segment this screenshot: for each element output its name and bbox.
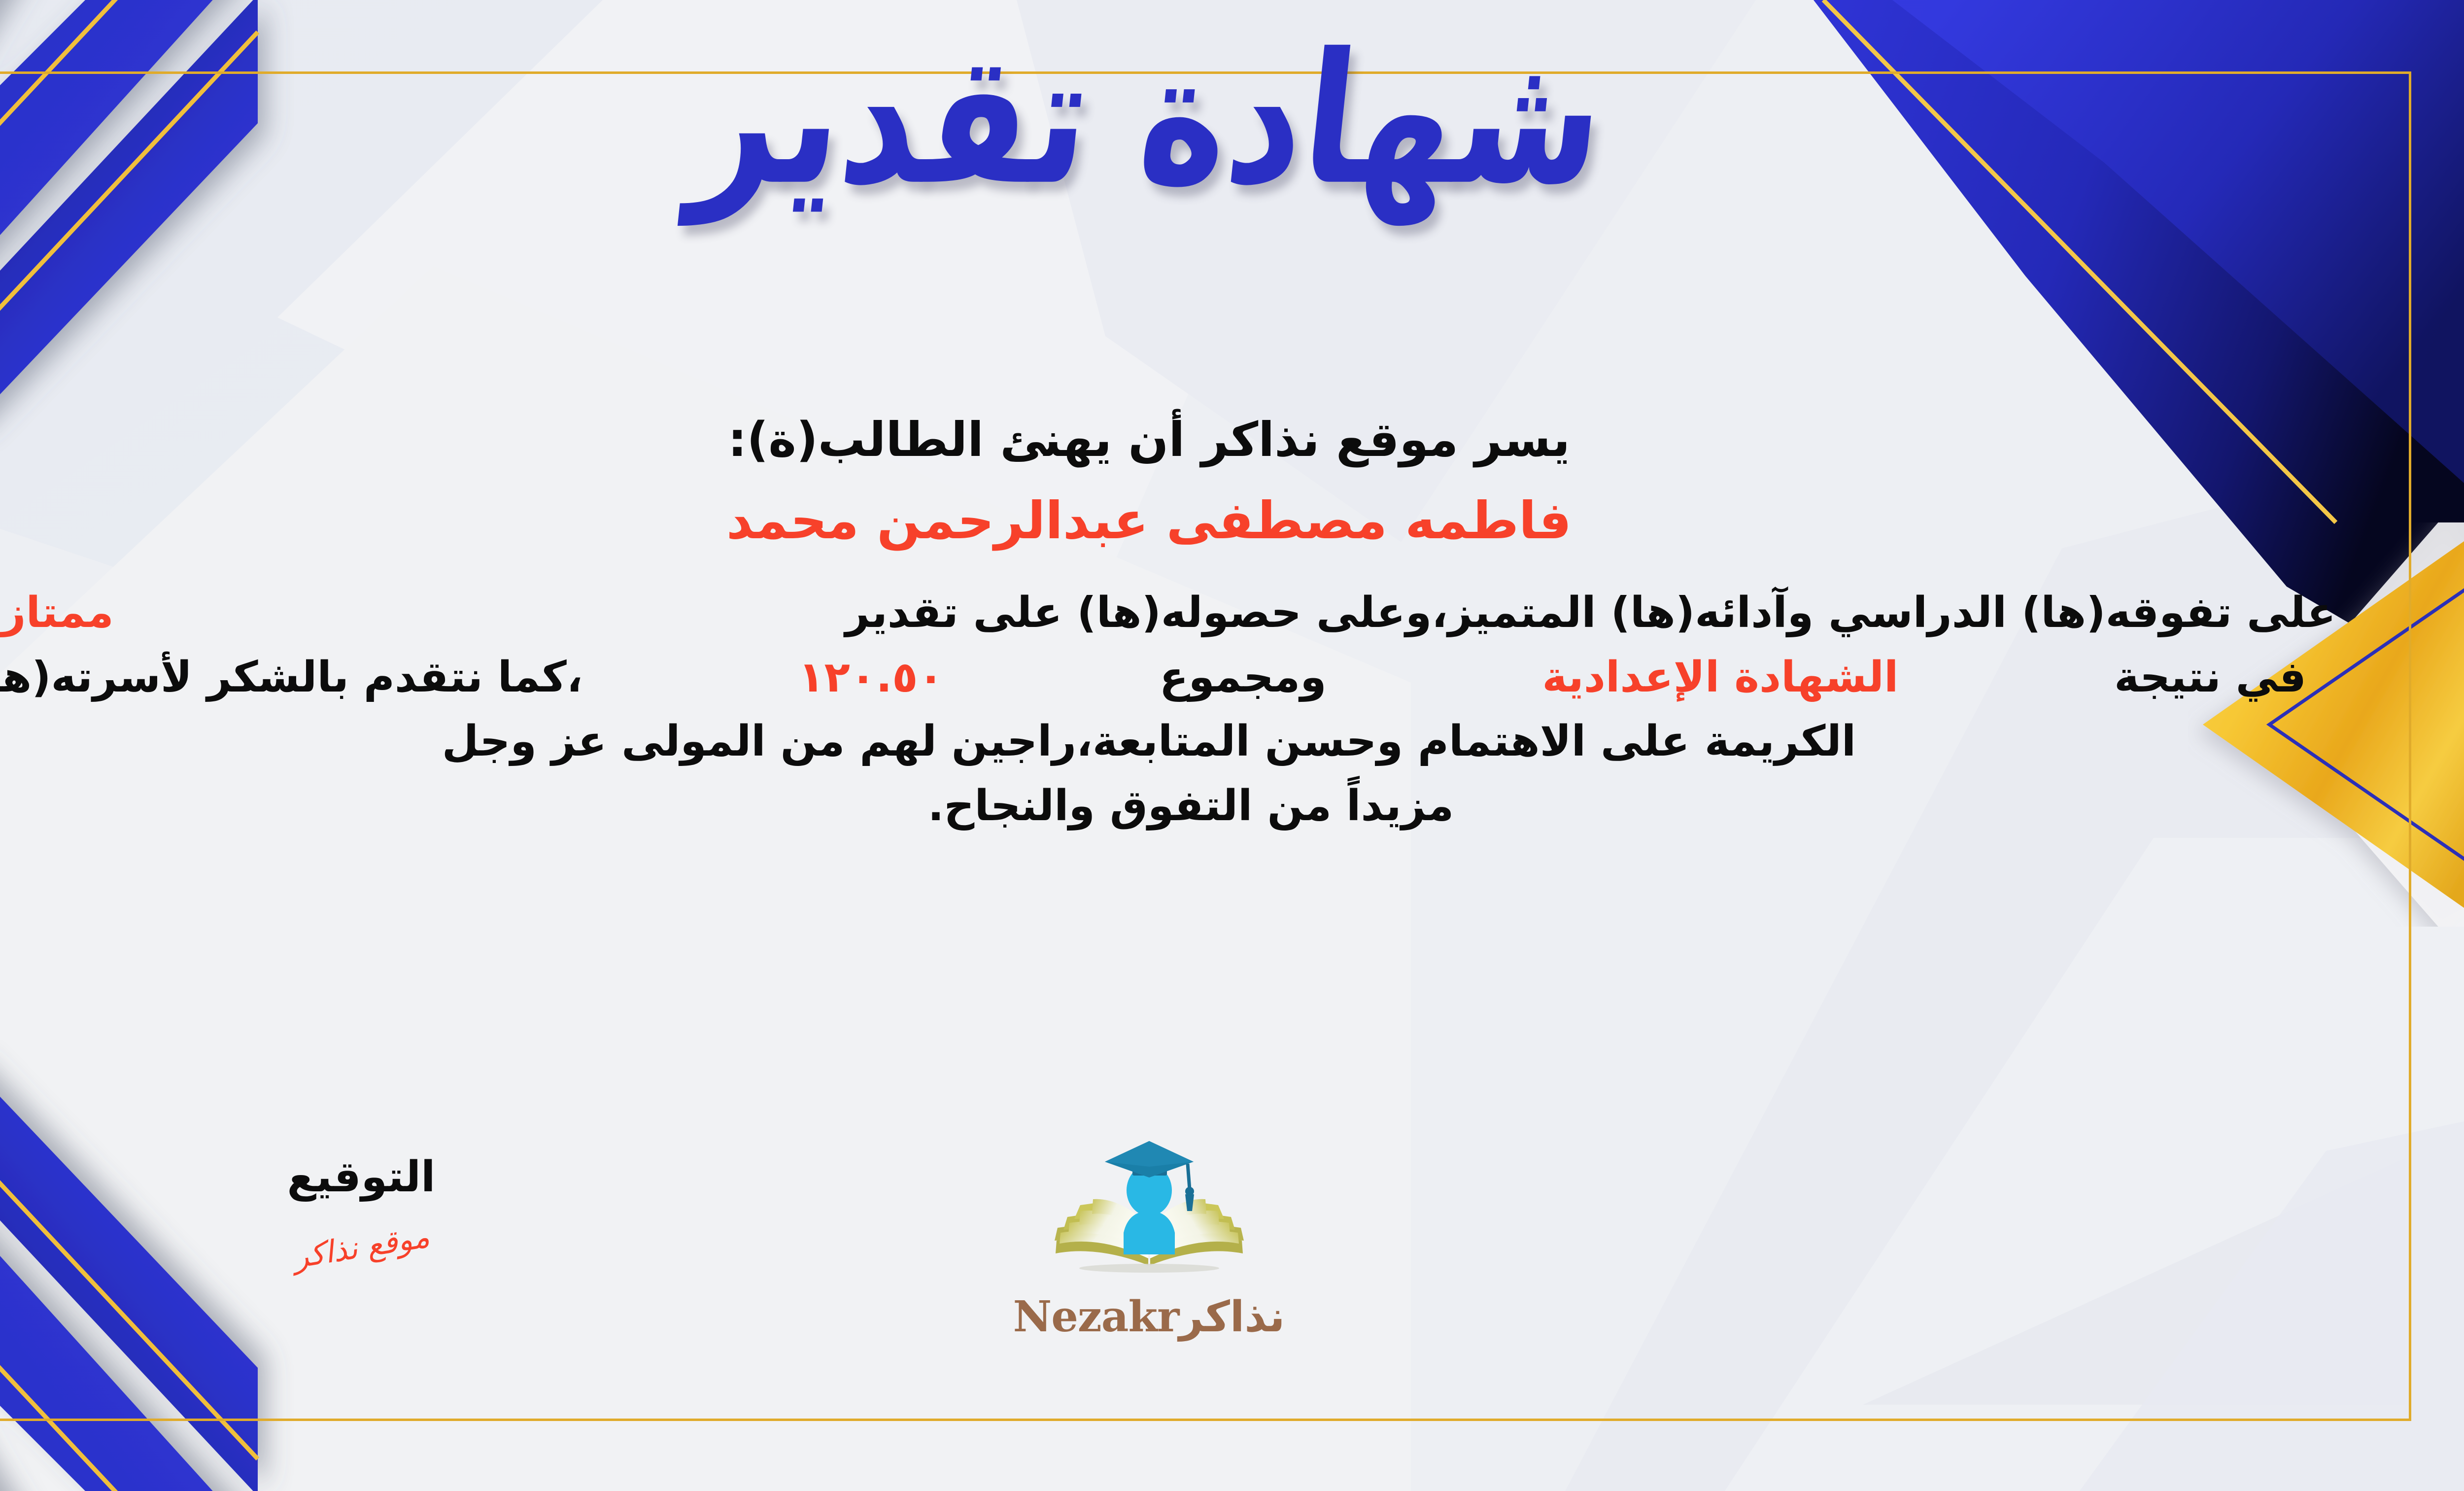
intro-line: يسر موقع نذاكر أن يهنئ الطالب(ة): <box>0 409 2351 471</box>
exam-name: الشهادة الإعدادية <box>1542 645 1898 710</box>
signature-block: التوقيع موقع نذاكر <box>204 1156 519 1265</box>
certificate-body: يسر موقع نذاكر أن يهنئ الطالب(ة): فاطمه … <box>0 409 2351 838</box>
citation-line-1: على تفوقه(ها) الدراسي وآدائه(ها) المتميز… <box>0 581 2351 645</box>
certificate-canvas: شهادة تقدير يسر موقع نذاكر أن يهنئ الطال… <box>0 0 2464 1491</box>
graduate-book-logo-icon <box>1046 1136 1253 1289</box>
brand-logo-wordmark: Nezakrنذاكر <box>957 1292 1341 1342</box>
citation-line-4: مزيداً من التفوق والنجاح. <box>0 774 2351 838</box>
total-label: ومجموع <box>1160 645 1327 710</box>
handwritten-signature: موقع نذاكر <box>291 1218 432 1276</box>
exam-prefix-label: في نتيجة <box>2114 645 2306 710</box>
citation-line-1-text: على تفوقه(ها) الدراسي وآدائه(ها) المتميز… <box>845 581 2336 645</box>
citation-paragraph: على تفوقه(ها) الدراسي وآدائه(ها) المتميز… <box>0 581 2351 838</box>
signature-label: التوقيع <box>204 1156 519 1198</box>
brand-name-arabic: نذاكر <box>1179 1292 1285 1342</box>
student-name: فاطمه مصطفى عبدالرحمن محمد <box>0 487 2351 554</box>
brand-name-latin: Nezakr <box>1013 1292 1179 1342</box>
brand-logo: Nezakrنذاكر <box>957 1136 1341 1342</box>
citation-line-3: الكريمة على الاهتمام وحسن المتابعة،راجين… <box>0 709 2351 774</box>
certificate-footer: التوقيع موقع نذاكر <box>0 1121 2400 1417</box>
total-score-value: ١٢٠.٥٠ <box>798 645 944 710</box>
citation-line-2: في نتيجة الشهادة الإعدادية ومجموع ١٢٠.٥٠… <box>0 645 2351 710</box>
citation-line-2-suffix: ،كما نتقدم بالشكر لأسرته(ها) <box>0 645 582 710</box>
grade-value: ممتاز <box>1 581 114 645</box>
